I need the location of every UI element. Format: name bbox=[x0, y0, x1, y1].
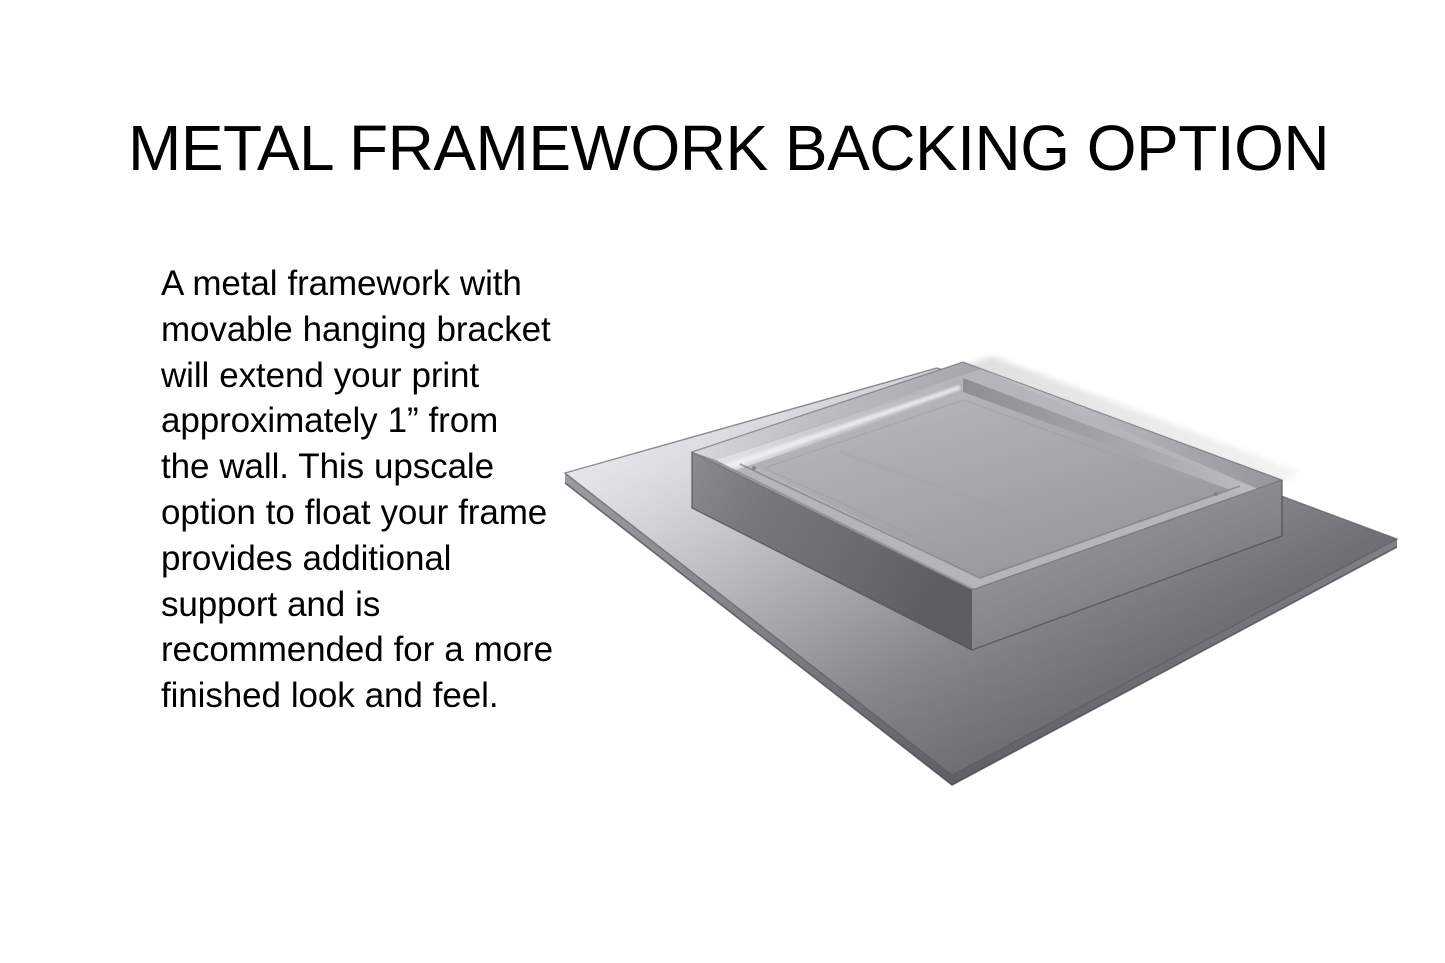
body-paragraph: A metal framework with movable hanging b… bbox=[161, 261, 553, 719]
frame-fixing-point bbox=[1214, 492, 1218, 496]
slide-canvas: METAL FRAMEWORK BACKING OPTION A metal f… bbox=[0, 0, 1445, 963]
page-title: METAL FRAMEWORK BACKING OPTION bbox=[128, 115, 1328, 182]
frame-fixing-point bbox=[752, 466, 756, 470]
product-photo bbox=[540, 340, 1420, 810]
metal-framework-illustration bbox=[540, 340, 1420, 810]
